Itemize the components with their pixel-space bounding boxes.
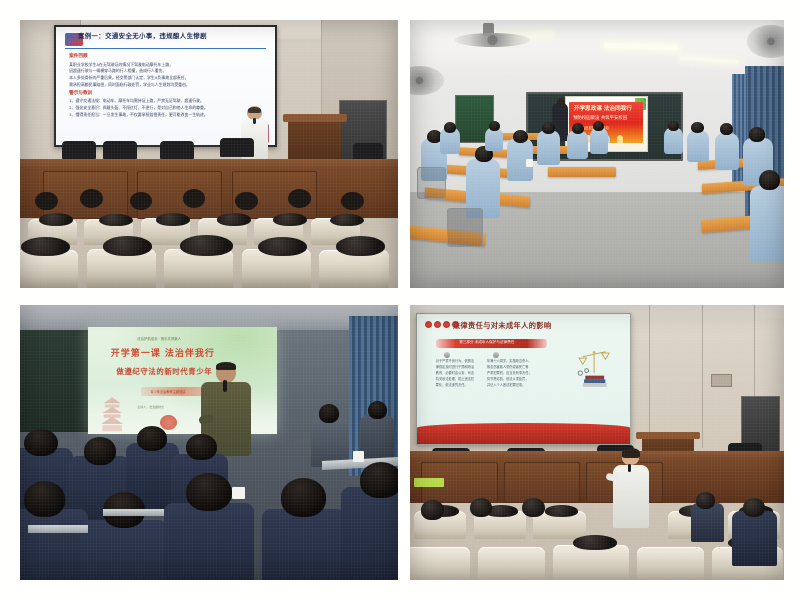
microphone-icon — [628, 464, 631, 472]
student-head — [470, 498, 492, 517]
student-head — [691, 122, 704, 133]
student-head — [513, 130, 528, 143]
scene-auditorium-1: 案例一：交通安全无小事，违规酿人生惨剧 案件回顾 某职业学校学生A在无驾驶证的情… — [20, 20, 398, 288]
audience-row — [410, 506, 784, 539]
ceiling — [410, 20, 784, 76]
audience-head — [288, 189, 311, 208]
slide-title-rule — [65, 48, 267, 49]
audience-head — [341, 192, 364, 211]
scene-classroom-1: 开学思政课 法治同我行 预防校园欺凌 共筑平安校园 法治进校园宣讲活动 — [410, 20, 784, 288]
stage-top-edge — [20, 159, 398, 168]
audience-head — [183, 189, 206, 208]
slide-bottom-wave — [417, 423, 630, 444]
student-head — [720, 123, 733, 135]
student-head — [749, 127, 765, 142]
presenter-hair — [248, 107, 261, 113]
head-table-chair — [160, 141, 194, 160]
stage-top-edge — [410, 451, 784, 460]
student — [164, 503, 255, 580]
student-head — [759, 170, 780, 190]
stage-front — [20, 159, 398, 218]
student-head — [319, 404, 340, 423]
slide-section-heading-1: 案件回顾 — [69, 53, 87, 59]
student-head — [368, 401, 387, 419]
circle-marker-icon — [444, 352, 450, 358]
water-bottle — [526, 159, 533, 167]
scene-auditorium-2: 法律责任与对未成年人的影响 第三部分 未成年人保护与法律责任 对于严重不良行为，… — [410, 305, 784, 580]
student — [687, 130, 709, 162]
student-head — [24, 429, 58, 457]
presenter-hair — [216, 362, 236, 370]
student-head — [360, 462, 398, 498]
student-chair — [417, 167, 445, 198]
student — [485, 127, 504, 151]
photo-top-right[interactable]: 开学思政课 法治同我行 预防校园欺凌 共筑平安校园 法治进校园宣讲活动 — [410, 20, 784, 288]
podium — [288, 116, 341, 162]
head-table-chair — [103, 141, 137, 160]
student — [341, 487, 398, 581]
green-object — [414, 478, 444, 486]
student — [750, 186, 784, 261]
student-head — [186, 434, 216, 460]
student-head — [24, 481, 66, 517]
student — [262, 509, 345, 581]
student — [691, 503, 725, 542]
microphone-icon — [223, 380, 227, 392]
banner-figure-icon — [617, 135, 624, 143]
stage-panel — [504, 462, 581, 503]
student-head — [281, 478, 326, 517]
student-desk — [103, 509, 163, 516]
slide-legal-responsibility: 法律责任与对未成年人的影响 第三部分 未成年人保护与法律责任 对于严重不良行为，… — [417, 314, 630, 443]
photo-top-left[interactable]: 案例一：交通安全无小事，违规酿人生惨剧 案件回顾 某职业学校学生A在无驾驶证的情… — [20, 20, 398, 288]
student-head — [668, 121, 679, 131]
wall-fan-icon — [747, 25, 784, 57]
student — [537, 130, 559, 165]
cup — [232, 487, 245, 499]
photo-bottom-right[interactable]: 法律责任与对未成年人的影响 第三部分 未成年人保护与法律责任 对于严重不良行为，… — [410, 305, 784, 580]
scene-classroom-2: 法治护航成长 · 携手共育新人 开学第一课 法治伴我行 做遵纪守法的新时代青少年… — [20, 305, 398, 580]
scales-of-justice-and-books-icon — [566, 348, 617, 392]
slide-seal-icon — [160, 415, 177, 430]
student-desk — [548, 167, 615, 176]
student-head — [542, 122, 555, 134]
slide-badge-icon — [434, 321, 441, 328]
wall-sign — [711, 374, 732, 387]
student-head — [137, 426, 167, 451]
circle-marker-icon — [493, 352, 499, 358]
head-table-chair — [220, 138, 254, 157]
student-chair — [447, 208, 483, 248]
slide-section-banner-text: 第三部分 未成年人保护与法律责任 — [459, 340, 514, 345]
student-head — [84, 437, 116, 465]
podium-top — [636, 432, 700, 439]
pagoda-illustration-icon — [97, 396, 127, 432]
microphone-icon — [253, 118, 256, 124]
slide-badge-icon — [443, 321, 450, 328]
audience-row — [20, 240, 398, 288]
ceiling-fan-icon — [455, 33, 530, 46]
podium-top — [283, 114, 347, 122]
student-head — [444, 122, 456, 133]
banner-line-2: 预防校园欺凌 共筑平安校园 — [573, 115, 627, 121]
wall-seam — [702, 305, 703, 448]
slide-footer: 主讲人：法治副校长 — [137, 405, 164, 409]
student-desk — [28, 525, 88, 533]
student-head — [522, 498, 544, 517]
student — [20, 509, 88, 581]
stage-front — [410, 451, 784, 503]
banner-line-1: 开学思政课 法治同我行 — [574, 104, 632, 112]
slide-kicker: 法治护航成长 · 携手共育新人 — [137, 336, 181, 341]
audience-head — [35, 192, 58, 211]
wall-seam — [649, 305, 650, 448]
head-table-chair — [62, 141, 96, 160]
student-head — [421, 500, 443, 519]
slide-title-line-2: 做遵纪守法的新时代青少年 — [116, 366, 212, 377]
slide-section-body-1: 某职业学校学生A在无驾驶证的情况下驾驶电动摩托车上路， 因超速行驶与一辆横穿马路… — [69, 62, 262, 89]
student-head — [489, 121, 500, 131]
student-head — [572, 123, 584, 134]
student-head — [743, 498, 765, 517]
slide-title: 法律责任与对未成年人的影响 — [453, 321, 552, 331]
student — [360, 415, 394, 462]
student — [715, 133, 739, 171]
slide-title-line-1: 开学第一课 法治伴我行 — [111, 346, 215, 359]
presenter-hair — [622, 448, 640, 458]
slide-column-2: 年满十六周岁，实施故意杀人、 故意伤害致人重伤或者死亡等 严重犯罪的，应当负刑事… — [487, 359, 538, 389]
student-head — [186, 473, 231, 512]
student — [590, 127, 609, 154]
slide-section-body-2: 1、遵守交通法规：电动车、摩托车均需持证上路，严禁无证驾驶、超速行驶。 2、强化… — [69, 98, 262, 118]
slide-section-heading-2: 警示与教训 — [69, 90, 92, 96]
slide-title: 案例一：交通安全无小事，违规酿人生惨剧 — [78, 31, 207, 40]
cup — [353, 451, 364, 462]
photo-collage: 案例一：交通安全无小事，违规酿人生惨剧 案件回顾 某职业学校学生A在无驾驶证的情… — [0, 0, 800, 600]
photo-bottom-left[interactable]: 法治护航成长 · 携手共育新人 开学第一课 法治伴我行 做遵纪守法的新时代青少年… — [20, 305, 398, 580]
slide-ribbon-text: 青少年法治教育主题宣讲 — [150, 389, 185, 394]
slide-column-1: 对于严重不良行为，依照法 律规定及时进行干预和矫治 教育，必要时由公安、司法 机… — [436, 359, 483, 389]
student — [664, 127, 683, 154]
projection-screen: 法律责任与对未成年人的影响 第三部分 未成年人保护与法律责任 对于严重不良行为，… — [416, 313, 631, 444]
audience-row — [410, 539, 784, 580]
slide-badge-icon — [425, 321, 432, 328]
student — [567, 130, 588, 159]
student-head — [696, 492, 715, 509]
student — [80, 520, 167, 581]
student — [732, 511, 777, 566]
audience-head — [80, 189, 103, 208]
